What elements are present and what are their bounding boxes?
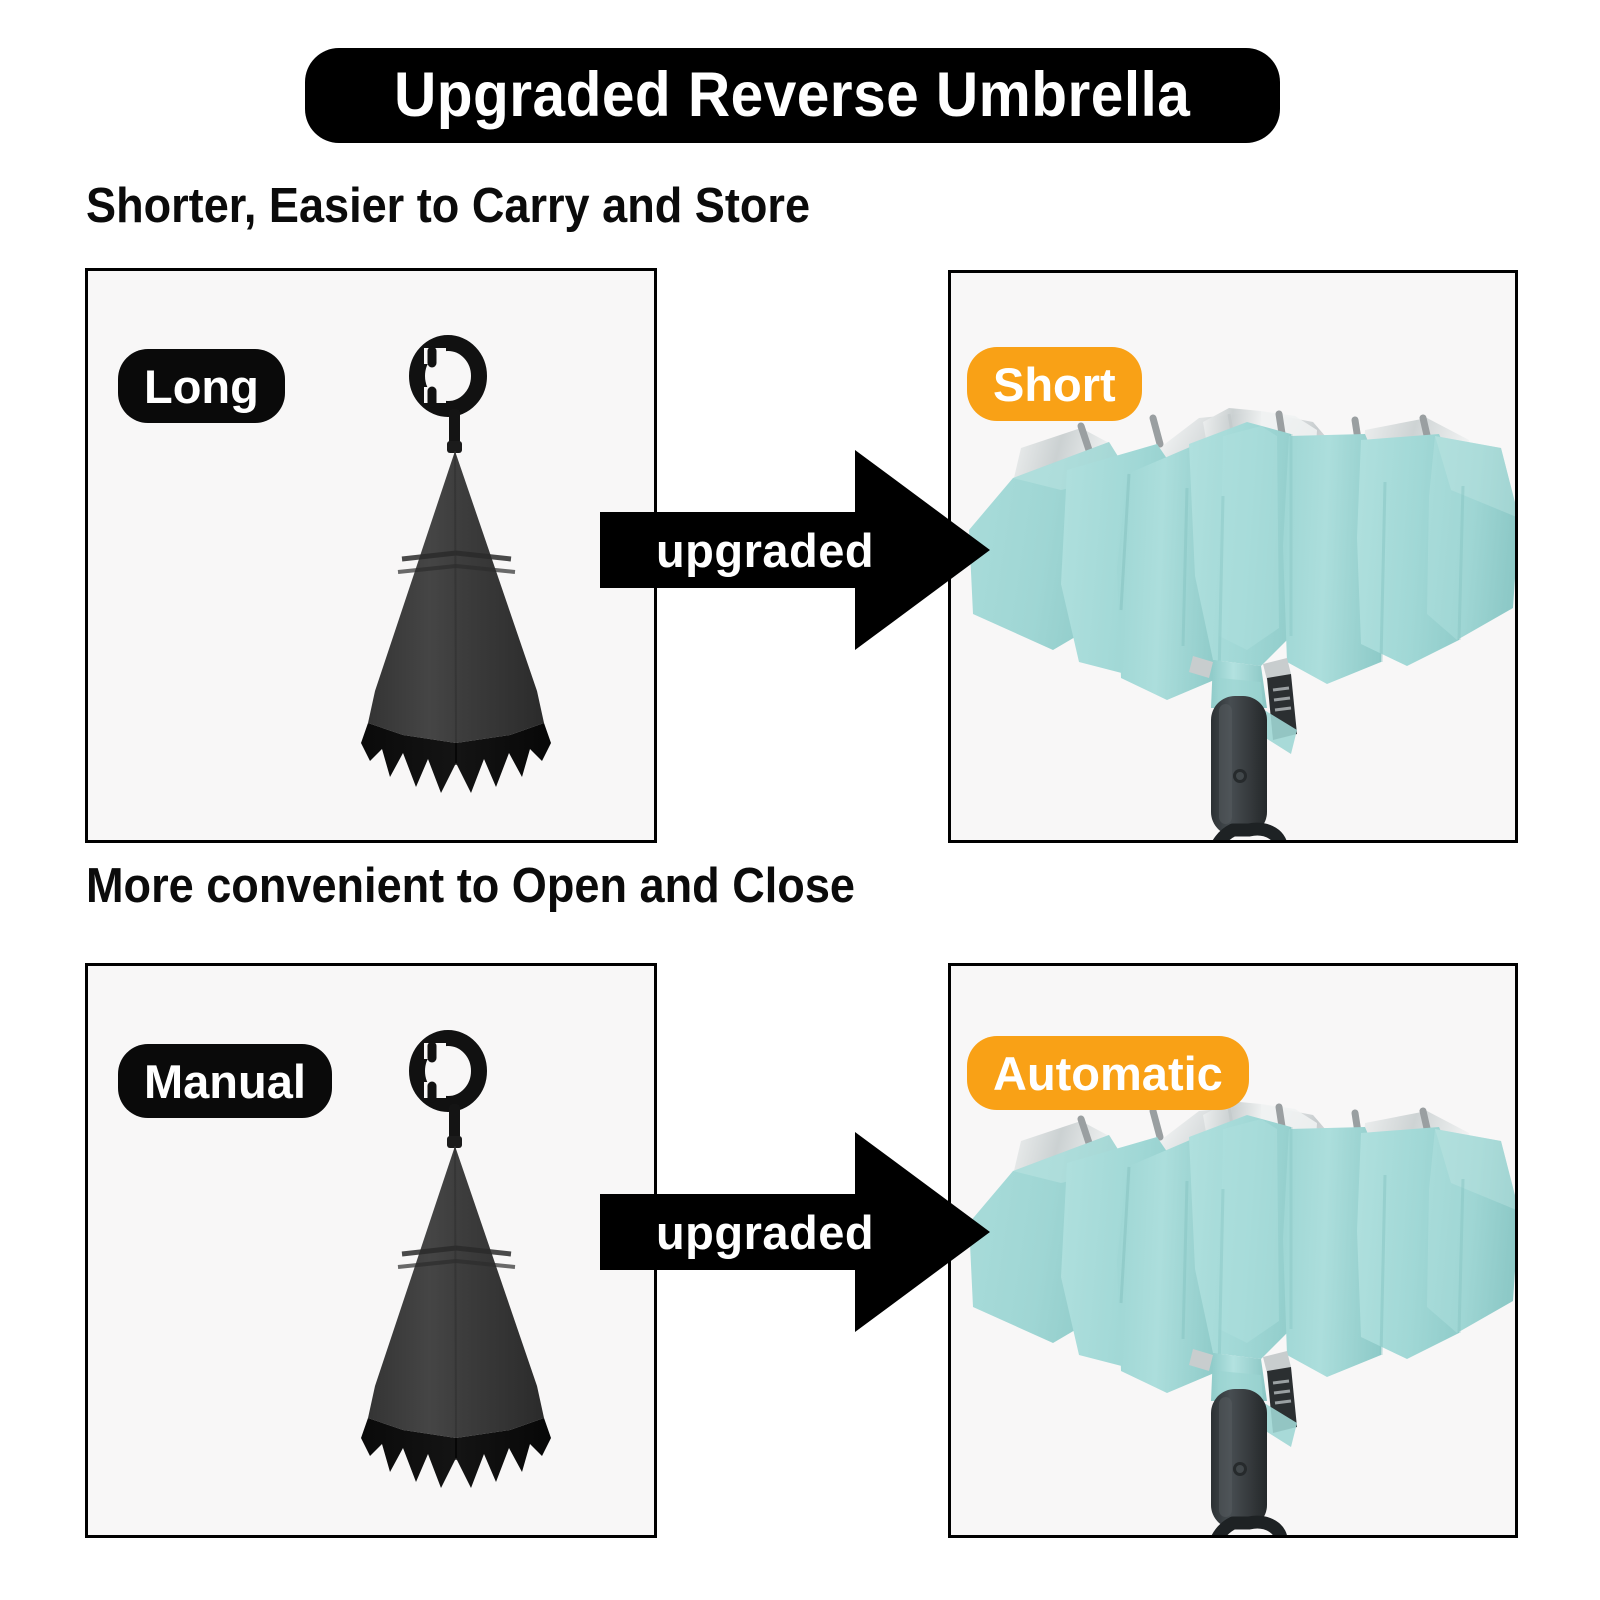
- comparison-panel-long: Long: [85, 268, 657, 843]
- upgrade-arrow-1: upgraded: [600, 450, 990, 650]
- teal-short-folding-umbrella: [961, 378, 1515, 840]
- comparison-panel-manual: Manual: [85, 963, 657, 1538]
- panel-inner: Long: [88, 271, 654, 840]
- section-heading-2: More convenient to Open and Close: [86, 862, 855, 911]
- teal-short-folding-umbrella: [961, 1071, 1515, 1535]
- umbrella-handle: [1211, 696, 1267, 836]
- badge-short: Short: [967, 347, 1142, 421]
- page-title: Upgraded Reverse Umbrella: [394, 64, 1190, 127]
- panel-inner: Short: [951, 273, 1515, 840]
- black-long-reverse-umbrella: [306, 291, 606, 836]
- section-heading-1: Shorter, Easier to Carry and Store: [86, 182, 810, 231]
- arrow-right-icon: [600, 1132, 990, 1332]
- black-long-reverse-umbrella: [306, 986, 606, 1531]
- badge-long: Long: [118, 349, 285, 423]
- panel-inner: Manual: [88, 966, 654, 1535]
- umbrella-handle: [1211, 1389, 1267, 1529]
- badge-automatic: Automatic: [967, 1036, 1249, 1110]
- page-title-pill: Upgraded Reverse Umbrella: [305, 48, 1280, 143]
- wrist-strap-loop-icon: [1214, 1522, 1281, 1535]
- c-hook-handle-icon: [417, 343, 479, 453]
- upgrade-arrow-2: upgraded: [600, 1132, 990, 1332]
- comparison-panel-short: Short: [948, 270, 1518, 843]
- arrow-right-icon: [600, 450, 990, 650]
- infographic-page: Upgraded Reverse Umbrella Shorter, Easie…: [0, 0, 1600, 1600]
- c-hook-handle-icon: [417, 1038, 479, 1148]
- comparison-panel-automatic: Automatic: [948, 963, 1518, 1538]
- badge-manual: Manual: [118, 1044, 332, 1118]
- wrist-strap-loop-icon: [1214, 829, 1281, 840]
- panel-inner: Automatic: [951, 966, 1515, 1535]
